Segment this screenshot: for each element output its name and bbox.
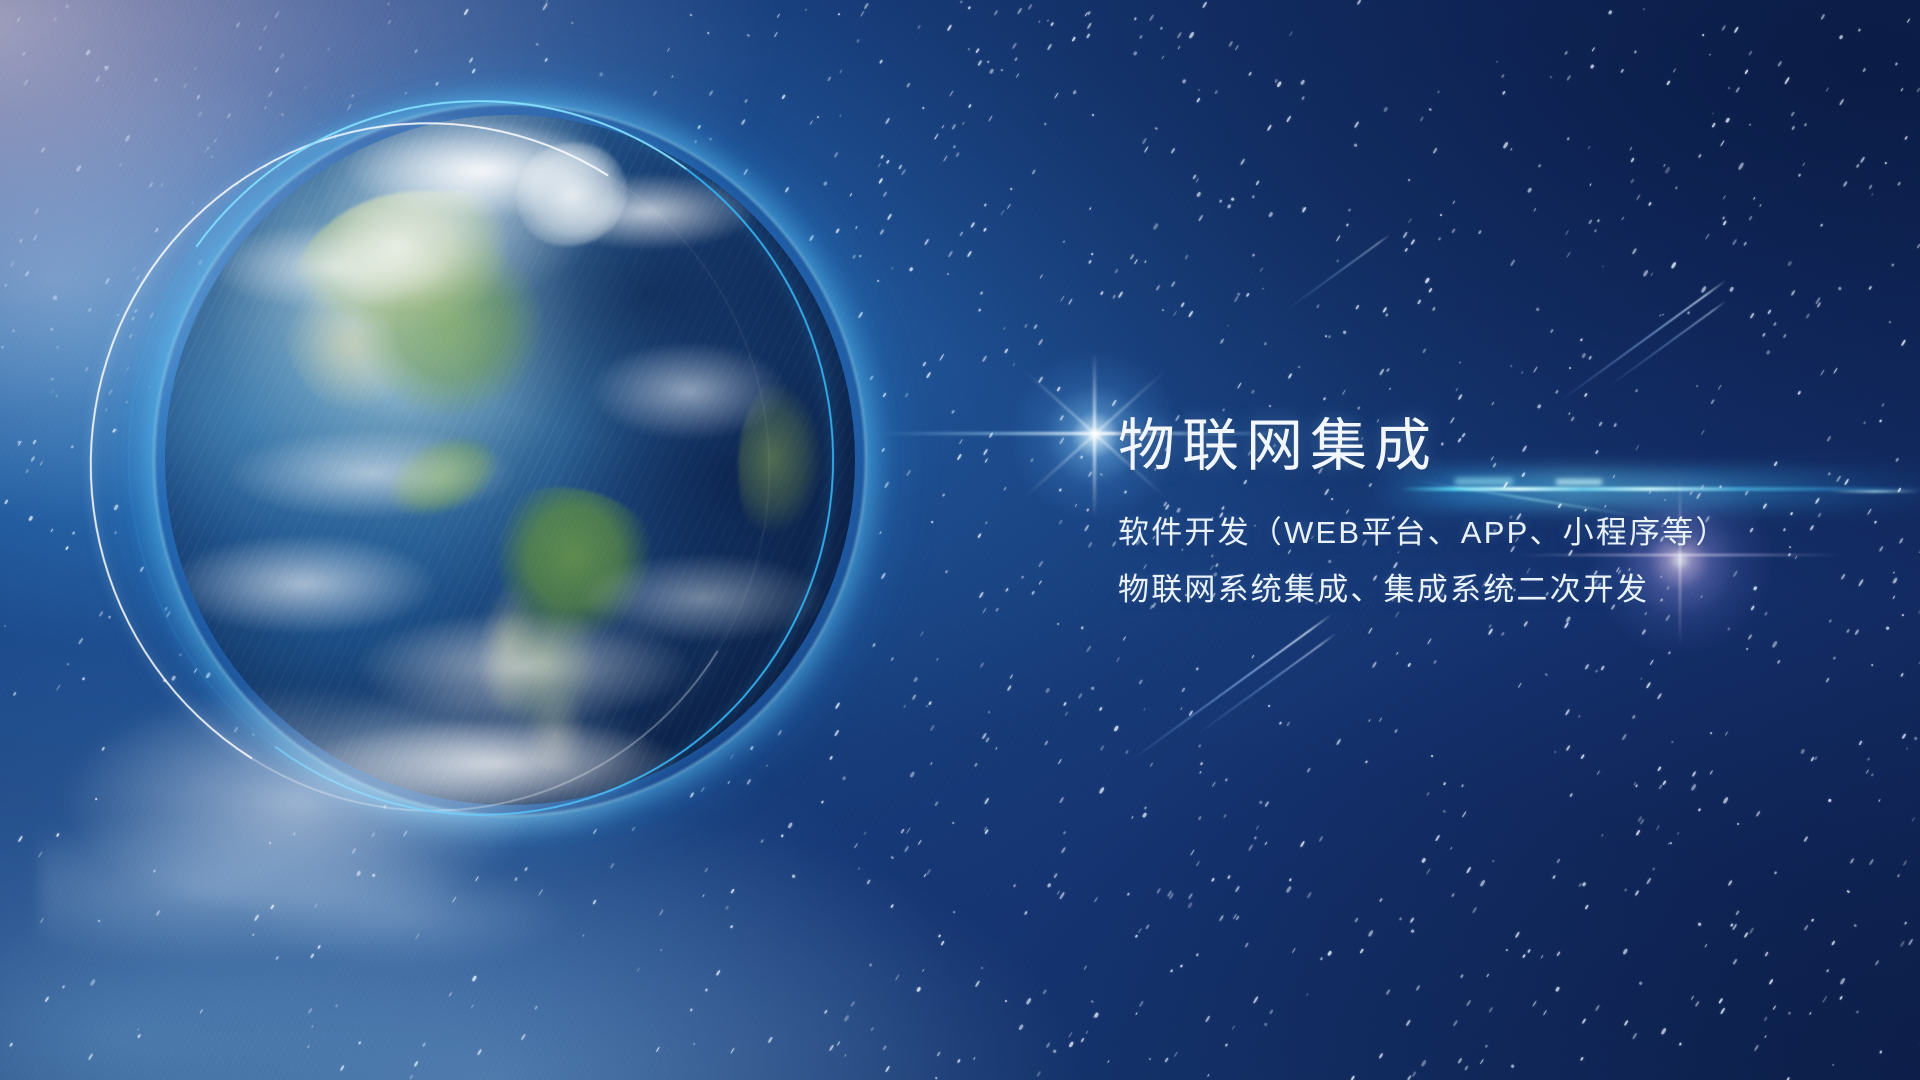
meteor-streak — [1194, 632, 1337, 736]
meteor-streak — [1559, 280, 1726, 402]
star-flare-vertical-spike — [1093, 352, 1096, 518]
banner-subtitle-1: 软件开发（WEB平台、APP、小程序等） — [1118, 517, 1858, 548]
cloud-mist-reflection — [40, 690, 800, 1020]
meteor-streak — [1604, 300, 1727, 390]
meteor-streak — [1129, 613, 1332, 762]
meteor-streak — [1284, 234, 1390, 312]
banner-text-block: 物联网集成 软件开发（WEB平台、APP、小程序等） 物联网系统集成、集成系统二… — [1118, 415, 1858, 605]
banner-stage: 物联网集成 软件开发（WEB平台、APP、小程序等） 物联网系统集成、集成系统二… — [0, 0, 1920, 1080]
banner-headline: 物联网集成 — [1118, 415, 1858, 479]
banner-subtitle-2: 物联网系统集成、集成系统二次开发 — [1118, 574, 1858, 605]
